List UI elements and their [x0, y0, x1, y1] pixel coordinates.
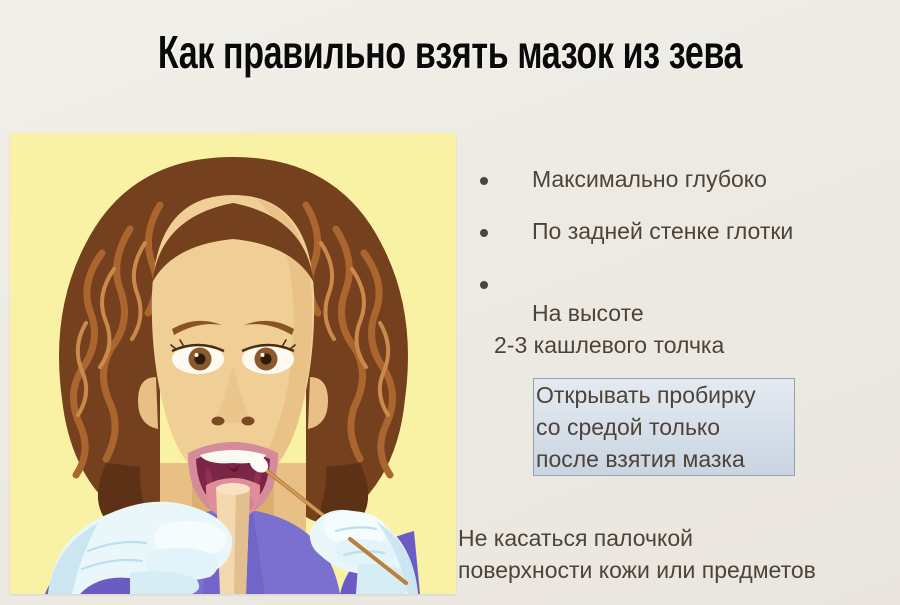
list-item-label: По задней стенке глотки — [532, 216, 793, 246]
footer-note: Не касаться палочкой поверхности кожи ил… — [458, 522, 898, 586]
illustration-svg — [10, 133, 456, 594]
list-item: На высоте 2-3 кашлевого толчка — [480, 268, 895, 390]
instruction-list: Максимально глубоко По задней стенке гло… — [480, 164, 895, 412]
page-title: Как правильно взять мазок из зева — [117, 28, 783, 76]
list-item: Максимально глубоко — [480, 164, 895, 194]
highlight-box-text: Открывать пробирку со средой только посл… — [536, 379, 836, 475]
list-item-label: Максимально глубоко — [532, 164, 767, 194]
list-item-label-continued: 2-3 кашлевого толчка — [494, 330, 724, 360]
list-item: По задней стенке глотки — [480, 216, 895, 246]
list-item-label-group: На высоте 2-3 кашлевого толчка — [532, 268, 724, 390]
bullet-dot-icon — [480, 229, 488, 237]
slide-canvas: Как правильно взять мазок из зева — [0, 0, 900, 605]
bullet-dot-icon — [480, 177, 488, 185]
bullet-dot-icon — [480, 281, 488, 289]
throat-swab-illustration — [10, 133, 456, 594]
list-item-label: На высоте — [532, 300, 644, 326]
